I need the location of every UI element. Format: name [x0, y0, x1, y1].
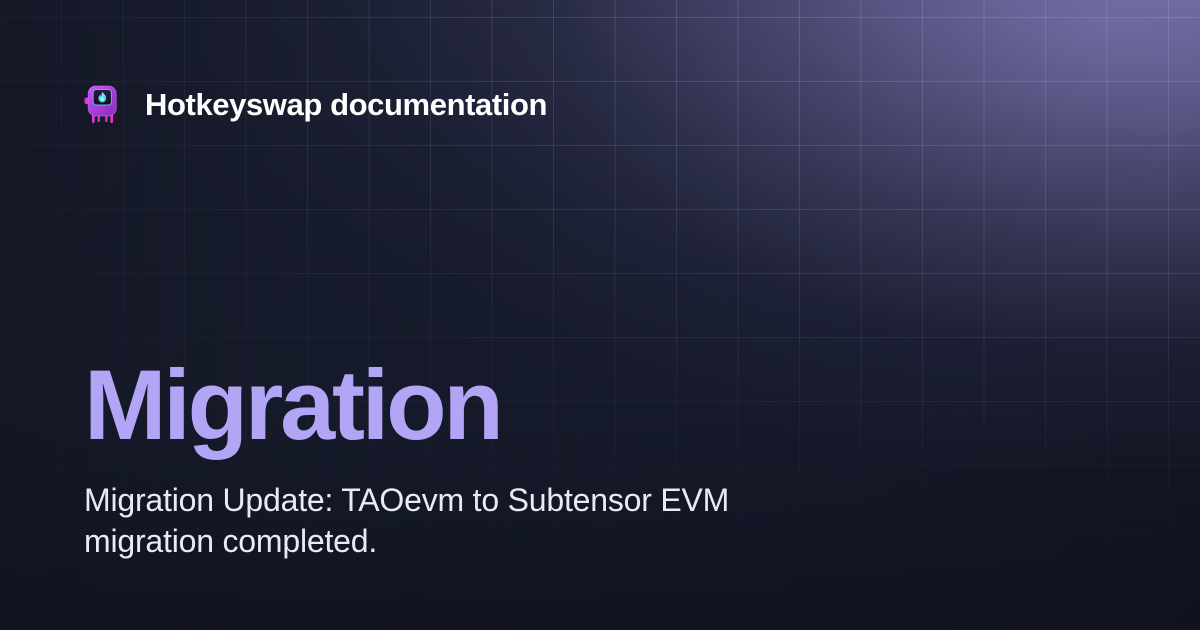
page-subtitle: Migration Update: TAOevm to Subtensor EV…: [84, 480, 794, 562]
og-card: Hotkeyswap documentation Migration Migra…: [0, 0, 1200, 630]
brand-header: Hotkeyswap documentation: [84, 82, 547, 126]
brand-title: Hotkeyswap documentation: [145, 89, 547, 120]
card-content: Hotkeyswap documentation Migration Migra…: [0, 0, 1200, 630]
hotkeyswap-robot-flame-icon: [84, 83, 120, 125]
page-title: Migration: [84, 355, 884, 454]
hero-block: Migration Migration Update: TAOevm to Su…: [84, 355, 884, 562]
